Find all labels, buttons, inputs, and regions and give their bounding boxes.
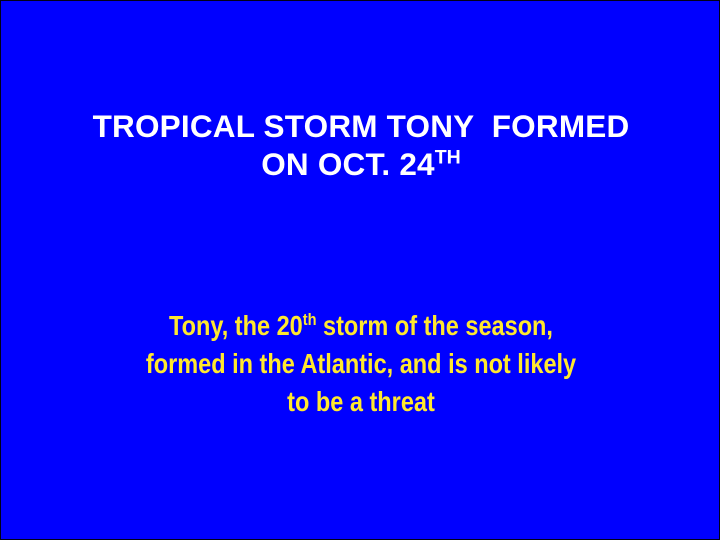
slide-title-line-2: ON OCT. 24TH [37,145,685,183]
slide-title-ordinal-suffix: TH [435,147,461,169]
slide-body-line-1-suffix: storm of the season, [316,310,552,341]
presentation-slide: TROPICAL STORM TONY FORMED ON OCT. 24TH … [0,0,720,540]
slide-title-line-2-text: ON OCT. 24 [261,146,435,182]
slide-body: Tony, the 20th storm of the season, form… [31,307,691,421]
slide-title-line-1: TROPICAL STORM TONY FORMED [37,107,685,145]
slide-body-line-2: formed in the Atlantic, and is not likel… [79,345,643,383]
slide-body-ordinal-suffix: th [303,310,317,329]
slide-title: TROPICAL STORM TONY FORMED ON OCT. 24TH [37,107,685,183]
slide-body-line-1: Tony, the 20th storm of the season, [79,307,643,345]
slide-body-line-1-prefix: Tony, the 20 [169,310,303,341]
slide-body-line-3: to be a threat [79,383,643,421]
